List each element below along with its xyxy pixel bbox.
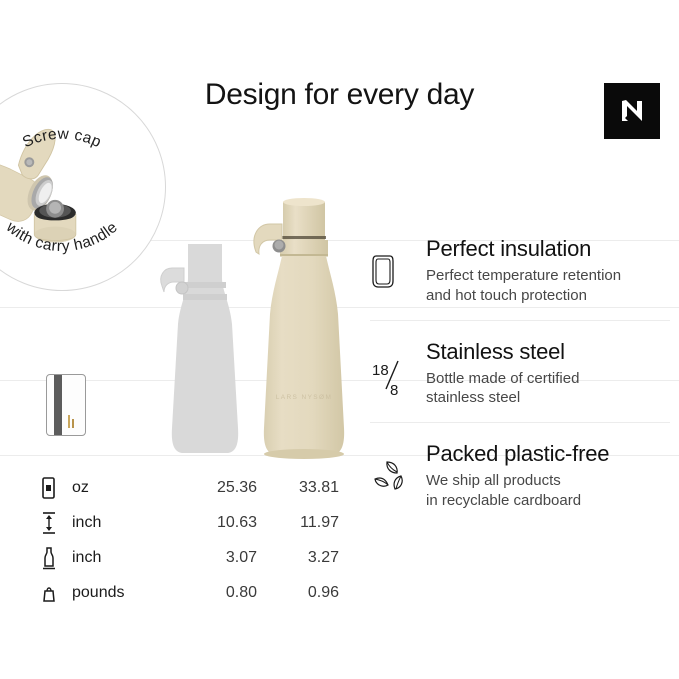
feature-list: Perfect insulation Perfect temperature r… — [370, 236, 670, 525]
card-chip-mark — [72, 419, 74, 428]
spec-value-large: 3.27 — [257, 549, 339, 567]
bottle-cap-detail-icon — [0, 84, 165, 290]
feature-title: Perfect insulation — [426, 236, 670, 262]
spec-value-large: 33.81 — [257, 479, 339, 497]
feature-desc-line: and hot touch protection — [426, 287, 587, 304]
spec-unit: oz — [72, 479, 177, 497]
spec-unit: inch — [72, 514, 177, 532]
feature-perfect-insulation: Perfect insulation Perfect temperature r… — [370, 236, 670, 320]
steel-ratio-icon: 18 8 — [370, 339, 426, 399]
feature-desc-line: We ship all products — [426, 472, 561, 489]
spec-table: oz 25.36 33.81 inch 10.63 11.97 — [42, 470, 342, 610]
spec-value-small: 25.36 — [177, 479, 257, 497]
ratio-bottom-number: 8 — [390, 382, 398, 399]
feature-title: Packed plastic-free — [426, 441, 670, 467]
spec-unit: pounds — [72, 584, 177, 602]
bottle-silhouette-small — [150, 238, 260, 460]
bottle-brand-emboss: LARS NYSØM — [250, 394, 358, 401]
recycle-leaves-icon — [370, 441, 426, 495]
screw-cap-inset — [0, 83, 166, 291]
diameter-icon — [42, 546, 72, 570]
infographic-canvas: Design for every day — [0, 0, 679, 679]
volume-icon — [42, 477, 72, 499]
height-icon — [42, 511, 72, 535]
table-row: oz 25.36 33.81 — [42, 470, 342, 505]
spec-unit: inch — [72, 549, 177, 567]
card-chip-mark — [68, 415, 70, 428]
feature-desc-line: Perfect temperature retention — [426, 267, 621, 284]
table-row: inch 10.63 11.97 — [42, 505, 342, 540]
bottle-large-cream: LARS NYSØM — [250, 196, 358, 460]
credit-card-reference — [46, 374, 86, 436]
feature-packed-plastic-free: Packed plastic-free We ship all products… — [370, 422, 670, 525]
spec-value-large: 0.96 — [257, 584, 339, 602]
feature-title: Stainless steel — [426, 339, 670, 365]
spec-value-large: 11.97 — [257, 514, 339, 532]
lars-nysom-logo — [604, 83, 660, 139]
table-row: inch 3.07 3.27 — [42, 540, 342, 575]
ratio-top-number: 18 — [372, 362, 389, 379]
weight-icon — [42, 583, 72, 603]
card-magnetic-stripe — [54, 375, 62, 435]
feature-desc-line: Bottle made of certified — [426, 370, 579, 387]
feature-stainless-steel: 18 8 Stainless steel Bottle made of cert… — [370, 320, 670, 423]
spec-value-small: 0.80 — [177, 584, 257, 602]
insulated-bottle-icon — [370, 236, 426, 290]
spec-value-small: 10.63 — [177, 514, 257, 532]
table-row: pounds 0.80 0.96 — [42, 575, 342, 610]
feature-desc-line: in recyclable cardboard — [426, 492, 581, 509]
spec-value-small: 3.07 — [177, 549, 257, 567]
feature-desc-line: stainless steel — [426, 389, 520, 406]
